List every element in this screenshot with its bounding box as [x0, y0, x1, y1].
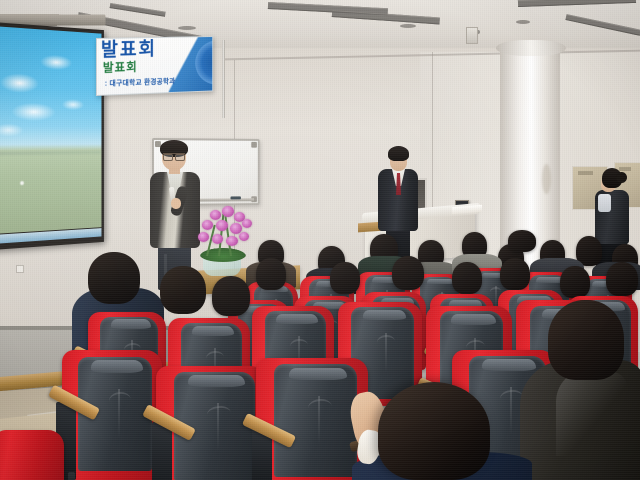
column-capital [496, 40, 566, 56]
banner-swoosh-icon [169, 36, 214, 96]
audience-head [392, 256, 424, 290]
wall-seam [432, 52, 433, 224]
foreground-attendee-head [378, 382, 490, 480]
seat-gloss [427, 279, 454, 285]
foreground-attendee-right-head [548, 300, 624, 380]
audience-head [560, 266, 590, 298]
projected-image [0, 26, 101, 234]
seat-gloss [276, 314, 318, 324]
audience-head [330, 262, 360, 294]
orchid-bloom [242, 219, 252, 228]
audience-head [606, 262, 638, 296]
audience-head [256, 258, 286, 290]
seat-gloss [363, 310, 407, 320]
seated-attendee-head [160, 266, 206, 314]
audience-head [500, 258, 530, 290]
seat-back [274, 364, 357, 477]
whiteboard-marker [231, 196, 241, 199]
ceiling-fitting [400, 24, 416, 28]
column-smudge [542, 164, 551, 194]
auditorium-photo: 발표회 발표회 : 대구대학교 환경공학과 [0, 0, 640, 480]
ceiling-speaker [466, 27, 478, 44]
orchid-bloom [210, 210, 221, 220]
banner-title-primary: 발표회 [101, 40, 157, 61]
projected-highlight [20, 181, 24, 185]
projection-screen [0, 22, 104, 250]
suited-man-hair [388, 146, 409, 161]
seated-attendee-head [88, 252, 140, 304]
seat-gloss [111, 319, 151, 328]
seat-emblem-icon [206, 403, 232, 451]
banner-subtitle: : 대구대학교 환경공학과 [105, 76, 176, 88]
seat-emblem-icon [376, 333, 396, 373]
seat-gloss [192, 326, 234, 336]
orchid-bloom [226, 236, 238, 246]
orchid-arrangement [192, 206, 256, 256]
whiteboard-corner [251, 142, 257, 148]
seat-gloss [289, 368, 347, 380]
hair-bun [616, 172, 627, 183]
audience-head [508, 230, 536, 252]
auditorium-seat [0, 430, 64, 480]
seat-leg [68, 472, 75, 480]
armrest-post [152, 422, 172, 480]
seated-attendee-head [212, 276, 250, 316]
leather-jacket-sheen [556, 372, 628, 456]
wall-outlet [16, 265, 24, 273]
wall-pipe [222, 40, 225, 118]
seat-gloss [188, 375, 245, 387]
standing-woman-blouse [598, 194, 611, 212]
seat-gloss [91, 360, 143, 373]
panel-slot [578, 171, 593, 174]
ceiling-fitting [178, 26, 196, 30]
orchid-bloom [198, 232, 209, 242]
seat-cushion [0, 430, 64, 480]
seat-gloss [482, 359, 536, 371]
orchid-bloom [212, 234, 223, 244]
banner-title-secondary: 발표회 [103, 61, 138, 75]
seat-emblem-icon [108, 389, 132, 439]
orchid-bloom [202, 220, 213, 230]
orchid-bloom [216, 220, 228, 231]
audience-head [452, 262, 482, 294]
ceiling-fitting [516, 20, 530, 24]
presenter-hand [171, 198, 181, 209]
glasses-icon [163, 153, 185, 158]
event-banner: 발표회 발표회 : 대구대학교 환경공학과 [96, 36, 213, 96]
orchid-bloom [239, 232, 249, 241]
seat-emblem-icon [307, 396, 334, 446]
seat-gloss [451, 314, 496, 324]
orchid-bloom [222, 206, 234, 217]
